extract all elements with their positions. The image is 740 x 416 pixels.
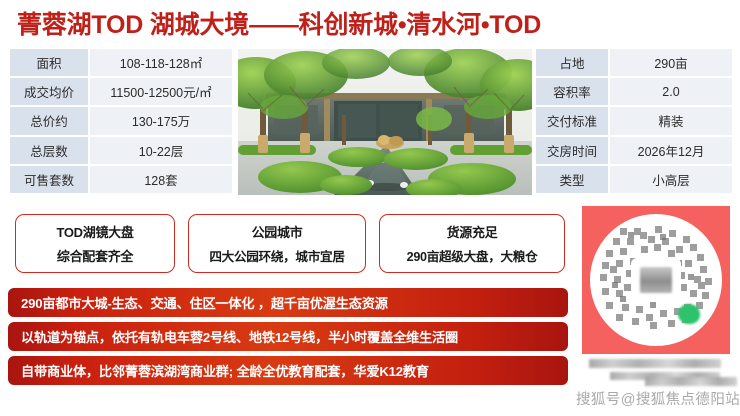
qr-center-logo <box>633 260 679 300</box>
spec-value: 290亩 <box>610 49 732 78</box>
spec-label: 占地 <box>536 49 610 78</box>
qr-code-circle[interactable] <box>590 214 722 346</box>
table-row: 容积率 2.0 <box>536 78 732 107</box>
highlight-banner: 自带商业体，比邻菁蓉滨湖湾商业群; 全龄全优教育配套，华爱K12教育 <box>8 356 568 385</box>
spec-value: 108-118-128㎡ <box>90 49 232 78</box>
project-landscape-photo <box>238 49 532 195</box>
spec-label: 交付标准 <box>536 107 610 136</box>
highlight-banner: 290亩都市大城-生态、交通、住区一体化 ，超千亩优渥生态资源 <box>8 288 568 317</box>
spec-label: 交房时间 <box>536 137 610 166</box>
spec-label: 面积 <box>10 49 90 78</box>
spec-value: 11500-12500元/㎡ <box>90 78 232 107</box>
spec-table-left: 面积 108-118-128㎡ 成交均价 11500-12500元/㎡ 总价约 … <box>10 49 232 195</box>
feature-card: 货源充足 290亩超级大盘，大粮仓 <box>379 214 565 273</box>
spec-label: 总层数 <box>10 137 90 166</box>
highlight-banner: 以轨道为锚点，依托有轨电车蓉2号线、地铁12号线，半小时覆盖全维生活圈 <box>8 322 568 351</box>
table-row: 总价约 130-175万 <box>10 107 232 136</box>
table-row: 总层数 10-22层 <box>10 137 232 166</box>
landscape-illustration <box>238 49 532 195</box>
spec-label: 成交均价 <box>10 78 90 107</box>
table-row: 面积 108-118-128㎡ <box>10 49 232 78</box>
feature-title: 货源充足 <box>447 222 498 241</box>
spec-value: 小高层 <box>610 166 732 195</box>
spec-value: 128套 <box>90 166 232 195</box>
spec-value: 2.0 <box>610 78 732 107</box>
table-row: 交付标准 精装 <box>536 107 732 136</box>
spec-value: 2026年12月 <box>610 137 732 166</box>
spec-value: 10-22层 <box>90 137 232 166</box>
feature-subtitle: 四大公园环绕，城市宜居 <box>209 246 344 265</box>
blurred-caption-line <box>589 359 721 368</box>
blurred-watermark-line <box>645 377 737 386</box>
feature-card: TOD湖镜大盘 综合配套齐全 <box>15 214 175 273</box>
qr-code-panel[interactable] <box>582 206 730 354</box>
spec-table-right: 占地 290亩 容积率 2.0 交付标准 精装 交房时间 2026年12月 类型… <box>536 49 732 195</box>
spec-label: 可售套数 <box>10 166 90 195</box>
spec-label: 总价约 <box>10 107 90 136</box>
spec-label: 类型 <box>536 166 610 195</box>
table-row: 交房时间 2026年12月 <box>536 137 732 166</box>
feature-subtitle: 290亩超级大盘，大粮仓 <box>407 246 538 265</box>
feature-subtitle: 综合配套齐全 <box>57 246 133 265</box>
page-title: 菁蓉湖TOD 湖城大境——科创新城•清水河•TOD <box>17 8 617 42</box>
table-row: 占地 290亩 <box>536 49 732 78</box>
watermark: 搜狐号@搜狐焦点德阳站 <box>576 388 738 409</box>
feature-title: 公园城市 <box>252 222 303 241</box>
table-row: 类型 小高层 <box>536 166 732 195</box>
spec-label: 容积率 <box>536 78 610 107</box>
wechat-badge-icon <box>678 304 700 324</box>
spec-value: 精装 <box>610 107 732 136</box>
poster-canvas: 菁蓉湖TOD 湖城大境——科创新城•清水河•TOD 面积 108-118-128… <box>0 0 740 416</box>
table-row: 成交均价 11500-12500元/㎡ <box>10 78 232 107</box>
feature-title: TOD湖镜大盘 <box>56 222 133 241</box>
feature-card: 公园城市 四大公园环绕，城市宜居 <box>188 214 366 273</box>
spec-value: 130-175万 <box>90 107 232 136</box>
table-row: 可售套数 128套 <box>10 166 232 195</box>
